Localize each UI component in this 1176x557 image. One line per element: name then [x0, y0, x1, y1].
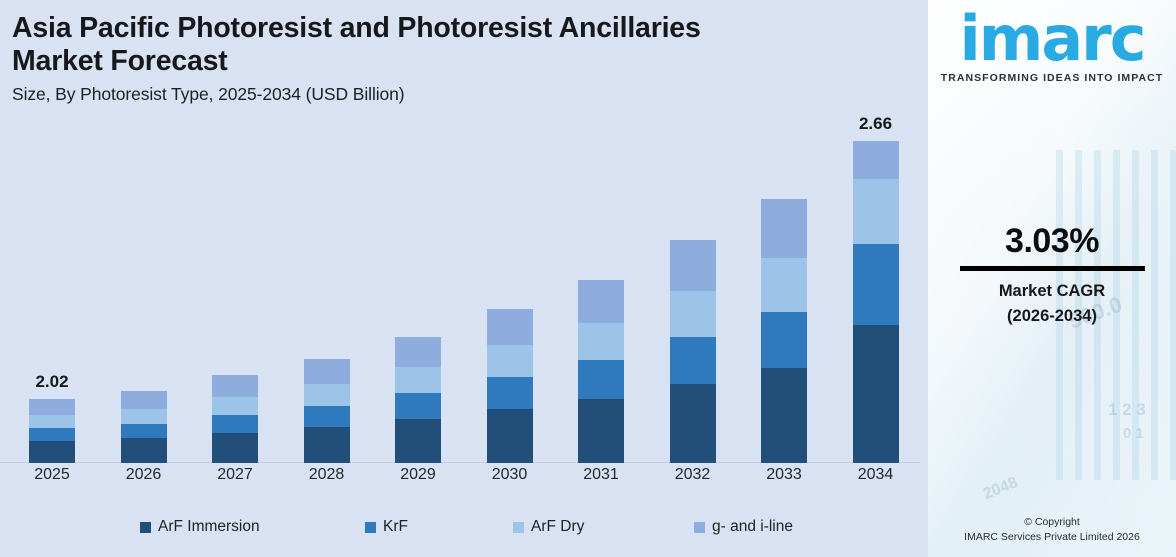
bar-segment-2034-arf-dry[interactable] [853, 179, 899, 244]
legend-label: KrF [383, 518, 408, 536]
bar-segment-2025-arf-immersion[interactable] [29, 441, 75, 463]
bar-segment-2034-arf-immersion[interactable] [853, 325, 899, 463]
imarc-logo: imarc TRANSFORMING IDEAS INTO IMPACT [928, 10, 1176, 84]
x-tick-2032: 2032 [670, 466, 716, 484]
bar-segment-2032-arf-dry[interactable] [670, 291, 716, 337]
bar-segment-2030-krf[interactable] [487, 377, 533, 409]
x-tick-2026: 2026 [121, 466, 167, 484]
bar-segment-2026-arf-dry[interactable] [121, 409, 167, 424]
brand-panel: 500.0 1 2 3 0 1 2048 imarc TRANSFORMING … [928, 0, 1176, 557]
title-block: Asia Pacific Photoresist and Photoresist… [12, 12, 902, 105]
bar-2034[interactable]: 2.66 [853, 141, 899, 463]
imarc-tagline: TRANSFORMING IDEAS INTO IMPACT [928, 72, 1176, 84]
bar-segment-2033-g-and-i-line[interactable] [761, 199, 807, 258]
legend-label: ArF Immersion [158, 518, 260, 536]
x-tick-2031: 2031 [578, 466, 624, 484]
x-tick-2029: 2029 [395, 466, 441, 484]
bar-segment-2028-arf-immersion[interactable] [304, 427, 350, 463]
legend-label: ArF Dry [531, 518, 584, 536]
bar-2033[interactable] [761, 199, 807, 463]
bar-segment-2032-g-and-i-line[interactable] [670, 240, 716, 291]
bar-segment-2028-krf[interactable] [304, 406, 350, 427]
legend-swatch-icon [694, 522, 705, 533]
bar-segment-2031-krf[interactable] [578, 360, 624, 398]
cagr-divider [960, 266, 1145, 271]
bar-segment-2025-krf[interactable] [29, 428, 75, 441]
plot-area: 2.022.66 [0, 120, 928, 463]
x-tick-2034: 2034 [853, 466, 899, 484]
chart-legend: ArF ImmersionKrFArF Dryg- and i-line [0, 518, 920, 544]
bar-2028[interactable] [304, 359, 350, 463]
copyright-notice: © Copyright IMARC Services Private Limit… [928, 515, 1176, 545]
cagr-label: Market CAGR [928, 279, 1176, 304]
bar-2030[interactable] [487, 309, 533, 463]
bar-segment-2030-arf-immersion[interactable] [487, 409, 533, 463]
bar-segment-2032-arf-immersion[interactable] [670, 384, 716, 463]
copyright-line-2: IMARC Services Private Limited 2026 [928, 530, 1176, 545]
bar-segment-2027-krf[interactable] [212, 415, 258, 433]
legend-item-g-and-i-line[interactable]: g- and i-line [694, 518, 793, 536]
x-tick-2027: 2027 [212, 466, 258, 484]
bar-segment-2026-arf-immersion[interactable] [121, 438, 167, 463]
bar-segment-2028-arf-dry[interactable] [304, 384, 350, 405]
bar-segment-2025-g-and-i-line[interactable] [29, 399, 75, 415]
bar-segment-2027-g-and-i-line[interactable] [212, 375, 258, 397]
legend-swatch-icon [140, 522, 151, 533]
bar-segment-2033-arf-immersion[interactable] [761, 368, 807, 463]
bar-2027[interactable] [212, 375, 258, 463]
bar-segment-2029-krf[interactable] [395, 393, 441, 419]
bar-segment-2029-g-and-i-line[interactable] [395, 337, 441, 367]
bar-2031[interactable] [578, 280, 624, 463]
x-tick-2028: 2028 [304, 466, 350, 484]
legend-label: g- and i-line [712, 518, 793, 536]
background-ghost-number-3: 0 1 [1123, 425, 1144, 442]
bar-segment-2034-krf[interactable] [853, 244, 899, 325]
cagr-block: 3.03% Market CAGR (2026-2034) [928, 222, 1176, 329]
bar-2025[interactable]: 2.02 [29, 399, 75, 463]
bar-segment-2030-arf-dry[interactable] [487, 345, 533, 377]
legend-item-arf-dry[interactable]: ArF Dry [513, 518, 584, 536]
page-title: Asia Pacific Photoresist and Photoresist… [12, 12, 902, 78]
bar-segment-2026-g-and-i-line[interactable] [121, 391, 167, 409]
bar-value-label-2025: 2.02 [35, 372, 68, 392]
cagr-period: (2026-2034) [928, 304, 1176, 329]
chart-panel: Asia Pacific Photoresist and Photoresist… [0, 0, 928, 557]
bar-segment-2025-arf-dry[interactable] [29, 415, 75, 428]
bar-segment-2031-g-and-i-line[interactable] [578, 280, 624, 322]
bar-segment-2026-krf[interactable] [121, 424, 167, 439]
bar-segment-2033-krf[interactable] [761, 312, 807, 368]
legend-swatch-icon [365, 522, 376, 533]
cagr-value: 3.03% [928, 222, 1176, 261]
bar-segment-2031-arf-dry[interactable] [578, 323, 624, 361]
bar-segment-2033-arf-dry[interactable] [761, 258, 807, 312]
legend-swatch-icon [513, 522, 524, 533]
x-tick-2025: 2025 [29, 466, 75, 484]
bar-value-label-2034: 2.66 [859, 114, 892, 134]
bar-segment-2029-arf-dry[interactable] [395, 367, 441, 393]
bar-segment-2028-g-and-i-line[interactable] [304, 359, 350, 384]
background-ghost-number-2: 1 2 3 [1108, 400, 1146, 420]
legend-item-krf[interactable]: KrF [365, 518, 408, 536]
x-tick-2030: 2030 [487, 466, 533, 484]
chart-subtitle: Size, By Photoresist Type, 2025-2034 (US… [12, 84, 902, 105]
copyright-line-1: © Copyright [928, 515, 1176, 530]
bar-2026[interactable] [121, 391, 167, 463]
bar-2032[interactable] [670, 240, 716, 463]
bar-segment-2031-arf-immersion[interactable] [578, 399, 624, 463]
legend-item-arf-immersion[interactable]: ArF Immersion [140, 518, 260, 536]
bar-segment-2027-arf-immersion[interactable] [212, 433, 258, 463]
x-tick-2033: 2033 [761, 466, 807, 484]
bar-segment-2029-arf-immersion[interactable] [395, 419, 441, 463]
x-axis: 2025202620272028202920302031203220332034 [0, 466, 920, 494]
bar-segment-2032-krf[interactable] [670, 337, 716, 384]
imarc-wordmark-icon: imarc [928, 10, 1176, 69]
bar-segment-2030-g-and-i-line[interactable] [487, 309, 533, 345]
bar-2029[interactable] [395, 337, 441, 463]
bar-segment-2027-arf-dry[interactable] [212, 397, 258, 415]
bar-segment-2034-g-and-i-line[interactable] [853, 141, 899, 179]
